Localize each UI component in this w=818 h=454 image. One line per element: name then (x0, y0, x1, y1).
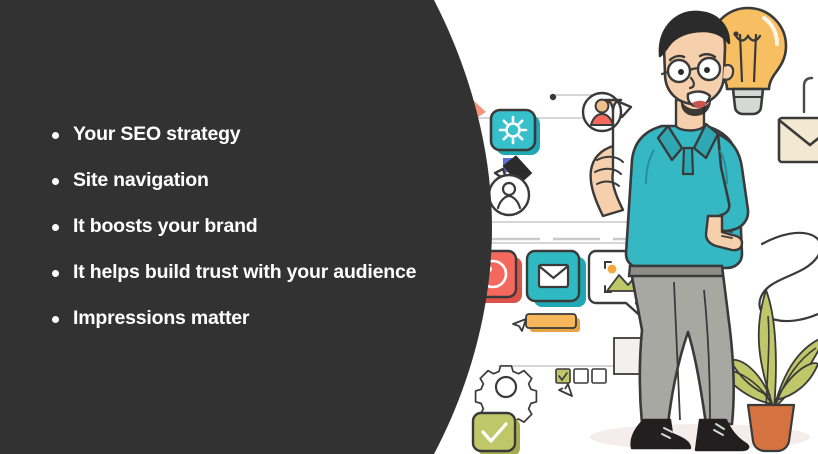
list-item: It helps build trust with your audience (52, 250, 482, 296)
slide-root: Your SEO strategy Site navigation It boo… (0, 0, 818, 454)
list-item: Impressions matter (52, 296, 482, 342)
bullet-dot-icon (52, 132, 59, 139)
bullet-label: It helps build trust with your audience (73, 263, 416, 283)
bullet-dot-icon (52, 178, 59, 185)
list-item: Your SEO strategy (52, 112, 482, 158)
bullet-list: Your SEO strategy Site navigation It boo… (52, 112, 482, 342)
bullet-label: Site navigation (73, 171, 209, 191)
bullet-dot-icon (52, 316, 59, 323)
check-badge-icon (473, 413, 520, 454)
checkbox-group-icon (556, 369, 606, 383)
bullet-dot-icon (52, 270, 59, 277)
gear-card-icon (491, 110, 540, 155)
bullet-label: Impressions matter (73, 309, 249, 329)
dot-decoration (550, 94, 556, 100)
bullet-label: Your SEO strategy (73, 125, 240, 145)
envelope-icon (779, 118, 818, 162)
bullet-dot-icon (52, 224, 59, 231)
mail-card-icon (527, 251, 586, 307)
list-item: Site navigation (52, 158, 482, 204)
list-item: It boosts your brand (52, 204, 482, 250)
bullet-label: It boosts your brand (73, 217, 258, 237)
